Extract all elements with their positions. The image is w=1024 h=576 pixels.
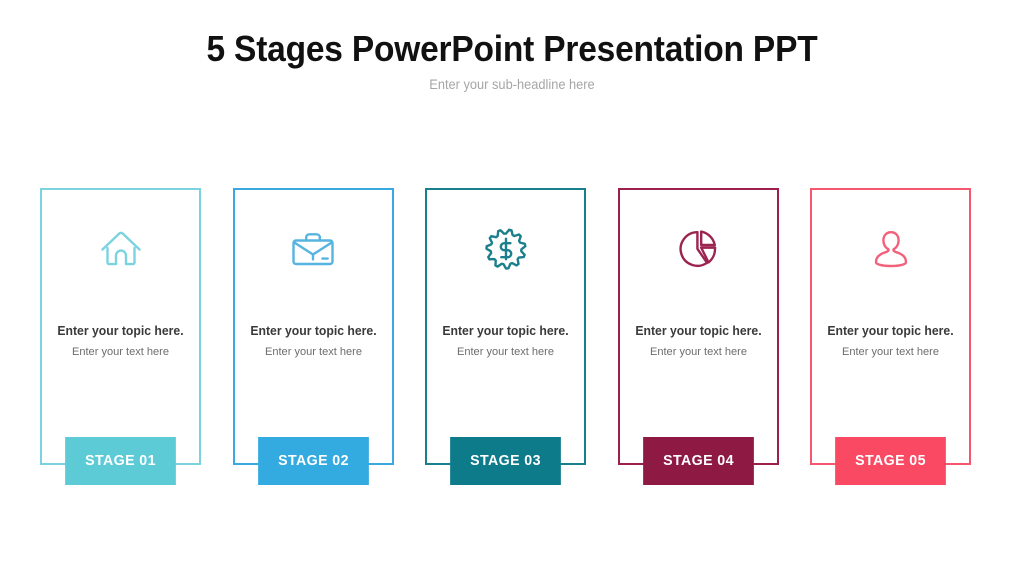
- stage-card-content: Enter your topic here.Enter your text he…: [42, 190, 199, 463]
- stage-card-2[interactable]: Enter your topic here.Enter your text he…: [233, 188, 394, 465]
- stage-card-3[interactable]: Enter your topic here.Enter your text he…: [425, 188, 586, 465]
- stage-badge-1[interactable]: STAGE 01: [65, 437, 176, 485]
- card-body-text: Enter your text here: [429, 346, 581, 358]
- stage-cards-row: Enter your topic here.Enter your text he…: [40, 188, 972, 488]
- card-topic-label: Enter your topic here.: [44, 324, 196, 338]
- card-topic-label: Enter your topic here.: [622, 324, 774, 338]
- stage-badge-4[interactable]: STAGE 04: [643, 437, 754, 485]
- person-icon: [812, 218, 969, 280]
- stage-badge-5[interactable]: STAGE 05: [835, 437, 946, 485]
- gear-dollar-icon: [427, 218, 584, 280]
- card-body-text: Enter your text here: [237, 346, 389, 358]
- pie-chart-icon: [620, 218, 777, 280]
- stage-badge-2[interactable]: STAGE 02: [258, 437, 369, 485]
- card-topic-label: Enter your topic here.: [429, 324, 581, 338]
- stage-card-5[interactable]: Enter your topic here.Enter your text he…: [810, 188, 971, 465]
- stage-card-content: Enter your topic here.Enter your text he…: [235, 190, 392, 463]
- slide-header: 5 Stages PowerPoint Presentation PPT Ent…: [0, 0, 1024, 92]
- card-topic-label: Enter your topic here.: [814, 324, 966, 338]
- home-icon: [42, 218, 199, 280]
- page-title: 5 Stages PowerPoint Presentation PPT: [36, 0, 988, 69]
- card-body-text: Enter your text here: [44, 346, 196, 358]
- stage-card-content: Enter your topic here.Enter your text he…: [620, 190, 777, 463]
- card-body-text: Enter your text here: [622, 346, 774, 358]
- stage-badge-3[interactable]: STAGE 03: [450, 437, 561, 485]
- card-body-text: Enter your text here: [814, 346, 966, 358]
- stage-card-content: Enter your topic here.Enter your text he…: [812, 190, 969, 463]
- stage-card-1[interactable]: Enter your topic here.Enter your text he…: [40, 188, 201, 465]
- page-subtitle: Enter your sub-headline here: [26, 69, 999, 92]
- briefcase-icon: [235, 218, 392, 280]
- stage-card-content: Enter your topic here.Enter your text he…: [427, 190, 584, 463]
- card-topic-label: Enter your topic here.: [237, 324, 389, 338]
- stage-card-4[interactable]: Enter your topic here.Enter your text he…: [618, 188, 779, 465]
